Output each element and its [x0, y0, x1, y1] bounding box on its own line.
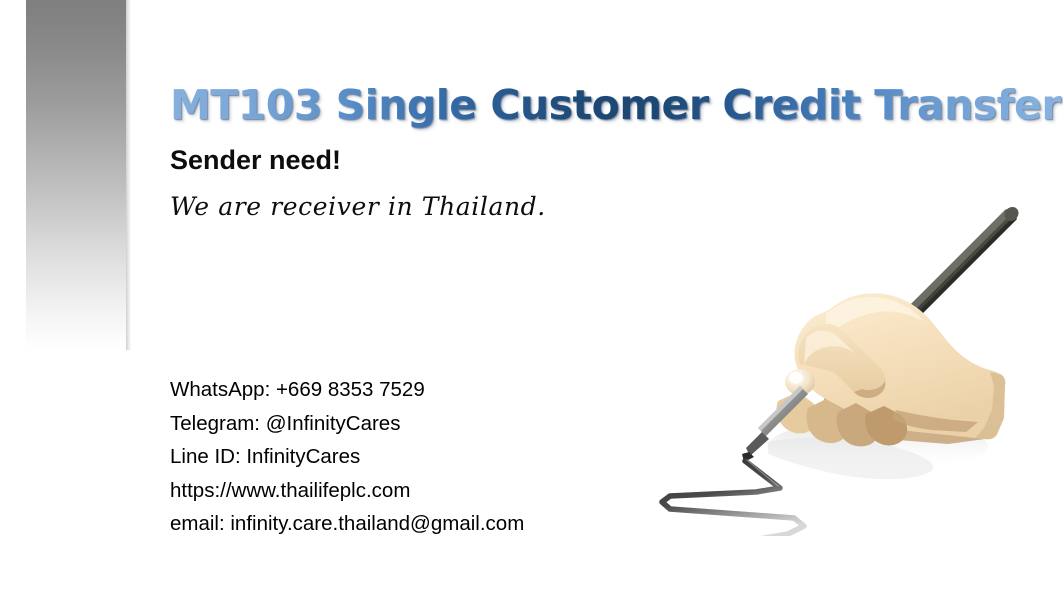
contact-line-website[interactable]: https://www.thailifeplc.com [170, 474, 524, 508]
contact-line-whatsapp: WhatsApp: +669 8353 7529 [170, 373, 524, 407]
side-gradient-bar [26, 0, 126, 350]
section-heading: Sender need! [170, 145, 341, 176]
contact-line-lineid: Line ID: InfinityCares [170, 440, 524, 474]
script-subheading: We are receiver in Thailand. [170, 192, 546, 221]
contact-block: WhatsApp: +669 8353 7529 Telegram: @Infi… [170, 373, 524, 541]
pen-nib [742, 432, 769, 462]
side-gradient-bar-edge [126, 0, 131, 350]
signature-stroke [662, 461, 804, 536]
page-title-text: MT103 Single Customer Credit Transfer [170, 79, 1061, 131]
hand-writing-with-pen-illustration [648, 196, 1048, 536]
contact-line-telegram: Telegram: @InfinityCares [170, 407, 524, 441]
contact-line-email[interactable]: email: infinity.care.thailand@gmail.com [170, 507, 524, 541]
slide-canvas: MT103 Single Customer Credit Transfer Se… [0, 0, 1063, 600]
signature-stroke-highlight [747, 460, 778, 486]
page-title: MT103 Single Customer Credit Transfer [170, 79, 1061, 131]
